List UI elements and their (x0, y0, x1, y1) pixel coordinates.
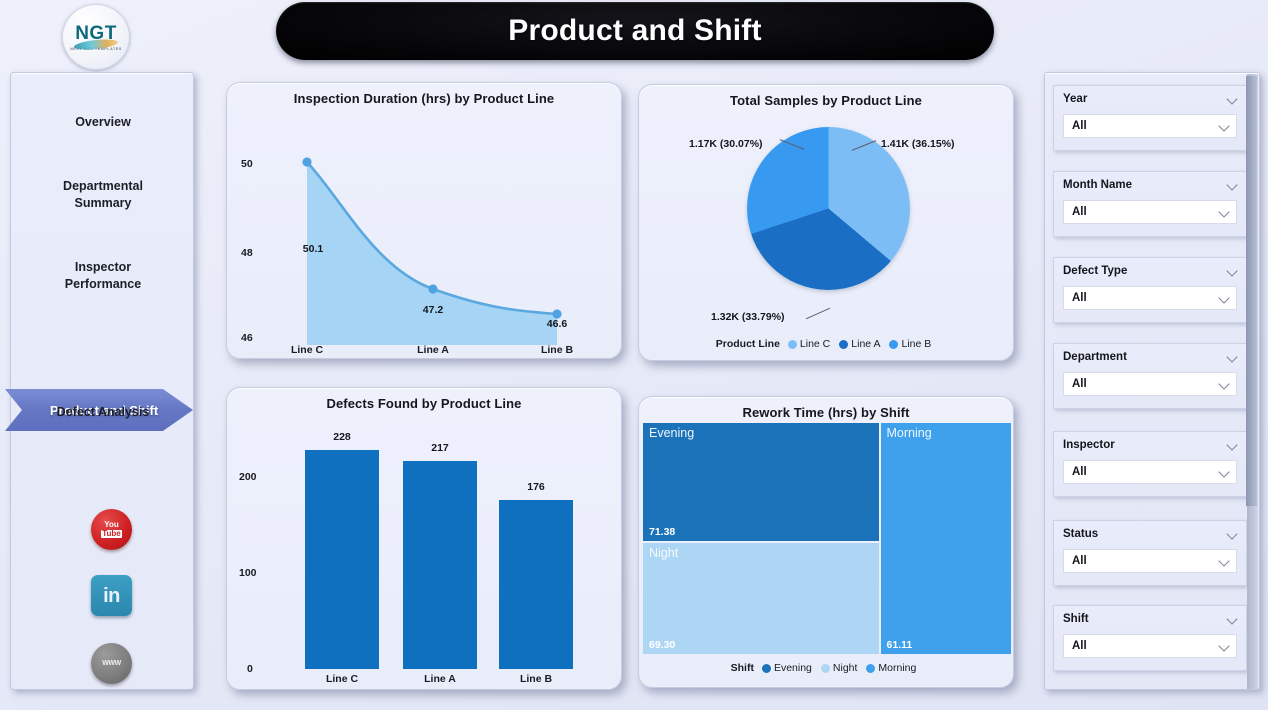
chevron-down-icon[interactable] (1219, 556, 1229, 566)
pie-label-line-c: 1.41K (36.15%) (881, 138, 955, 150)
chevron-down-icon[interactable] (1227, 266, 1237, 276)
legend-swatch-icon (788, 340, 797, 349)
chevron-down-icon[interactable] (1227, 529, 1237, 539)
chevron-down-icon[interactable] (1219, 293, 1229, 303)
treemap-legend: Shift Evening Night Morning (639, 662, 1013, 674)
slicer-inspector[interactable]: Inspector All (1053, 431, 1247, 497)
legend-item-line-a[interactable]: Line A (839, 338, 880, 350)
slicer-month-name[interactable]: Month Name All (1053, 171, 1247, 237)
x-label-line-a: Line A (403, 344, 463, 356)
treemap-cell-evening[interactable]: Evening 71.38 (643, 423, 879, 541)
legend-label: Morning (878, 662, 916, 674)
legend-item-night[interactable]: Night (821, 662, 858, 674)
slicer-year[interactable]: Year All (1053, 85, 1247, 151)
slicer-header: Inspector (1063, 439, 1237, 451)
filter-panel-scrollbar-thumb[interactable] (1246, 76, 1257, 506)
treemap-cell-value: 69.30 (649, 639, 675, 651)
legend-label: Line C (800, 338, 830, 350)
slicer-value: All (1072, 120, 1087, 132)
website-globe-icon[interactable]: WWW (91, 643, 132, 684)
legend-swatch-icon (866, 664, 875, 673)
chevron-down-icon[interactable] (1227, 352, 1237, 362)
y-tick-200: 200 (239, 471, 257, 483)
legend-title: Shift (731, 662, 754, 674)
sidebar-item-inspector-performance[interactable]: Inspector Performance (43, 259, 163, 293)
slicer-header: Defect Type (1063, 265, 1237, 277)
sidebar-item-defect-analysis[interactable]: Defect Analysis (11, 404, 195, 421)
pie-leader-line-a (806, 308, 830, 319)
chevron-down-icon[interactable] (1227, 180, 1237, 190)
pie-wrap (747, 127, 910, 290)
dashboard-page: NGT NEXT GEN TEMPLATES Product and Shift… (0, 0, 1268, 710)
sidebar-item-overview[interactable]: Overview (11, 114, 195, 131)
legend-label: Night (833, 662, 858, 674)
pie-slices[interactable] (747, 127, 910, 290)
data-label-line-c: 228 (312, 431, 372, 443)
data-label-line-b: 176 (506, 481, 566, 493)
slicer-value: All (1072, 378, 1087, 390)
legend-swatch-icon (839, 340, 848, 349)
x-label-line-b: Line B (506, 673, 566, 685)
slicer-value: All (1072, 555, 1087, 567)
slicer-label: Year (1063, 93, 1087, 105)
treemap-cell-label: Night (649, 546, 678, 560)
slicer-label: Shift (1063, 613, 1089, 625)
treemap-cell-value: 61.11 (887, 639, 913, 651)
chevron-down-icon[interactable] (1227, 440, 1237, 450)
treemap-plot: Evening 71.38 Night 69.30 Morning 61.11 (643, 423, 1011, 654)
slicer-department[interactable]: Department All (1053, 343, 1247, 409)
treemap-cell-label: Evening (649, 426, 694, 440)
legend-item-line-c[interactable]: Line C (788, 338, 830, 350)
chart-title: Rework Time (hrs) by Shift (639, 397, 1013, 420)
linkedin-glyph: in (103, 586, 120, 606)
slicer-value: All (1072, 640, 1087, 652)
slicer-value: All (1072, 206, 1087, 218)
data-label-line-c: 50.1 (293, 243, 333, 255)
chevron-down-icon[interactable] (1219, 121, 1229, 131)
legend-item-morning[interactable]: Morning (866, 662, 916, 674)
slicer-label: Month Name (1063, 179, 1132, 191)
pie-label-line-a: 1.32K (33.79%) (711, 311, 785, 323)
legend-swatch-icon (762, 664, 771, 673)
bar-line-c[interactable] (305, 450, 379, 669)
chart-card-defects-found: Defects Found by Product Line 200 100 0 … (226, 387, 622, 690)
chevron-down-icon[interactable] (1219, 379, 1229, 389)
website-glyph: WWW (102, 660, 121, 667)
treemap-cell-night[interactable]: Night 69.30 (643, 543, 879, 654)
legend-swatch-icon (821, 664, 830, 673)
slicer-dropdown[interactable]: All (1063, 372, 1237, 396)
slicer-label: Department (1063, 351, 1127, 363)
sidebar-item-departmental-summary[interactable]: Departmental Summary (43, 178, 163, 212)
slicer-label: Status (1063, 528, 1098, 540)
area-chart-plot: 50 48 46 50.1 47.2 46.6 Line C Line A Li… (227, 83, 621, 358)
chevron-down-icon[interactable] (1219, 641, 1229, 651)
slicer-header: Department (1063, 351, 1237, 363)
x-label-line-c: Line C (277, 344, 337, 356)
legend-swatch-icon (889, 340, 898, 349)
bar-line-b[interactable] (499, 500, 573, 669)
y-tick-100: 100 (239, 567, 257, 579)
data-label-line-a: 47.2 (413, 304, 453, 316)
chart-card-total-samples: Total Samples by Product Line 1.41K (36.… (638, 84, 1014, 361)
legend-label: Line B (901, 338, 931, 350)
company-logo: NGT NEXT GEN TEMPLATES (62, 4, 130, 70)
slicer-value: All (1072, 466, 1087, 478)
slicer-value: All (1072, 292, 1087, 304)
chevron-down-icon[interactable] (1227, 614, 1237, 624)
chart-card-rework-time: Rework Time (hrs) by Shift Evening 71.38… (638, 396, 1014, 688)
pie-label-line-b: 1.17K (30.07%) (689, 138, 763, 150)
data-label-line-b: 46.6 (537, 318, 577, 330)
filter-panel-scrollbar-track[interactable] (1247, 74, 1258, 690)
slicer-shift[interactable]: Shift All (1053, 605, 1247, 671)
slicer-dropdown[interactable]: All (1063, 114, 1237, 138)
slicer-label: Inspector (1063, 439, 1115, 451)
bar-line-a[interactable] (403, 461, 477, 669)
treemap-cell-morning[interactable]: Morning 61.11 (881, 423, 1011, 654)
x-label-line-c: Line C (312, 673, 372, 685)
x-label-line-a: Line A (410, 673, 470, 685)
slicer-dropdown[interactable]: All (1063, 634, 1237, 658)
chart-card-inspection-duration: Inspection Duration (hrs) by Product Lin… (226, 82, 622, 359)
treemap-cell-value: 71.38 (649, 526, 675, 538)
slicer-dropdown[interactable]: All (1063, 460, 1237, 484)
slicer-dropdown[interactable]: All (1063, 286, 1237, 310)
slicer-header: Status (1063, 528, 1237, 540)
slicer-status[interactable]: Status All (1053, 520, 1247, 586)
slicer-header: Shift (1063, 613, 1237, 625)
bar-chart-plot: 200 100 0 228 217 176 Line C Line A Line… (227, 388, 621, 689)
x-label-line-b: Line B (527, 344, 587, 356)
legend-title: Product Line (716, 338, 780, 350)
chevron-down-icon[interactable] (1227, 94, 1237, 104)
slicer-label: Defect Type (1063, 265, 1127, 277)
filter-panel: Year All Month Name All Defect Type (1044, 72, 1260, 690)
chevron-down-icon[interactable] (1219, 207, 1229, 217)
legend-label: Evening (774, 662, 812, 674)
treemap-cell-label: Morning (887, 426, 932, 440)
youtube-glyph: YouTube (101, 521, 122, 538)
page-title-text: Product and Shift (508, 14, 761, 48)
slicer-header: Year (1063, 93, 1237, 105)
pie-legend: Product Line Line C Line A Line B (639, 338, 1013, 350)
pie-chart-plot: 1.41K (36.15%) 1.17K (30.07%) 1.32K (33.… (639, 85, 1013, 360)
slicer-header: Month Name (1063, 179, 1237, 191)
legend-item-line-b[interactable]: Line B (889, 338, 931, 350)
chevron-down-icon[interactable] (1219, 467, 1229, 477)
legend-label: Line A (851, 338, 880, 350)
data-label-line-a: 217 (410, 442, 470, 454)
page-title: Product and Shift (276, 2, 994, 60)
sidebar: Overview Departmental Summary Inspector … (10, 72, 194, 690)
linkedin-icon[interactable]: in (91, 575, 132, 616)
slicer-dropdown[interactable]: All (1063, 200, 1237, 224)
slicer-defect-type[interactable]: Defect Type All (1053, 257, 1247, 323)
slicer-dropdown[interactable]: All (1063, 549, 1237, 573)
y-tick-0: 0 (247, 663, 253, 675)
youtube-icon[interactable]: YouTube (91, 509, 132, 550)
legend-item-evening[interactable]: Evening (762, 662, 812, 674)
